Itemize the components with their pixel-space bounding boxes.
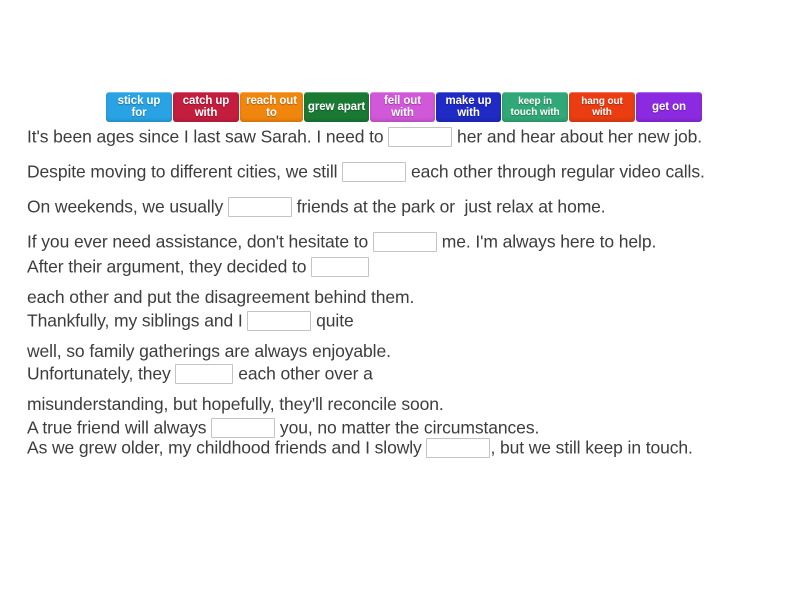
sentence-line: On weekends, we usually friends at the p… — [27, 198, 777, 218]
word-tile[interactable]: catch up with — [173, 92, 239, 122]
answer-drop-blank[interactable] — [311, 257, 369, 277]
answer-drop-blank[interactable] — [342, 162, 406, 182]
word-tile[interactable]: keep in touch with — [502, 92, 568, 122]
sentence-text-before: On weekends, we usually — [27, 197, 228, 217]
sentence-text-after: you, no matter the circumstances. — [275, 417, 539, 437]
word-tile[interactable]: get on — [636, 92, 702, 122]
sentence-line: If you ever need assistance, don't hesit… — [27, 233, 777, 253]
sentence-text-before: each other and put the disagreement behi… — [27, 287, 414, 307]
sentence-text-after: each other through regular video calls. — [406, 162, 705, 182]
sentence-text-after: each other over a — [233, 364, 372, 384]
sentence-line: Despite moving to different cities, we s… — [27, 163, 777, 183]
sentence-text-before: A true friend will always — [27, 417, 211, 437]
sentence-text-before: well, so family gatherings are always en… — [27, 341, 391, 361]
sentence-line: well, so family gatherings are always en… — [27, 343, 777, 361]
sentence-line: Thankfully, my siblings and I quite — [27, 312, 777, 332]
sentence-line: After their argument, they decided to — [27, 258, 777, 278]
sentence-text-after: quite — [311, 310, 353, 330]
word-tile[interactable]: hang out with — [569, 92, 635, 122]
word-tile[interactable]: make up with — [436, 92, 501, 122]
sentence-line: misunderstanding, but hopefully, they'll… — [27, 396, 777, 414]
sentence-line: Unfortunately, they each other over a — [27, 365, 777, 385]
word-tile[interactable]: reach out to — [240, 92, 303, 122]
answer-drop-blank[interactable] — [426, 438, 490, 458]
sentence-text-before: If you ever need assistance, don't hesit… — [27, 232, 373, 252]
sentence-text-before: misunderstanding, but hopefully, they'll… — [27, 394, 444, 414]
word-tile[interactable]: fell out with — [370, 92, 435, 122]
answer-drop-blank[interactable] — [373, 232, 437, 252]
word-tile[interactable]: grew apart — [304, 92, 369, 122]
answer-drop-blank[interactable] — [228, 197, 292, 217]
answer-drop-blank[interactable] — [175, 364, 233, 384]
answer-drop-blank[interactable] — [247, 311, 311, 331]
sentence-line: As we grew older, my childhood friends a… — [27, 439, 777, 459]
word-tile[interactable]: stick up for — [106, 92, 172, 122]
sentence-text-before: Despite moving to different cities, we s… — [27, 162, 342, 182]
word-bank[interactable]: stick up forcatch up withreach out togre… — [106, 92, 698, 122]
answer-drop-blank[interactable] — [388, 127, 452, 147]
sentence-text-before: Unfortunately, they — [27, 364, 175, 384]
answer-drop-blank[interactable] — [211, 418, 275, 438]
sentence-list: It's been ages since I last saw Sarah. I… — [27, 128, 777, 459]
sentence-text-after: me. I'm always here to help. — [437, 232, 656, 252]
sentence-text-before: After their argument, they decided to — [27, 257, 311, 277]
sentence-text-after: friends at the park or just relax at hom… — [292, 197, 606, 217]
sentence-text-before: Thankfully, my siblings and I — [27, 310, 247, 330]
sentence-text-after: her and hear about her new job. — [452, 127, 702, 147]
sentence-line: each other and put the disagreement behi… — [27, 289, 777, 307]
sentence-text-after: , but we still keep in touch. — [490, 437, 692, 457]
sentence-line: It's been ages since I last saw Sarah. I… — [27, 128, 777, 148]
sentence-line: A true friend will always you, no matter… — [27, 419, 777, 439]
sentence-text-before: It's been ages since I last saw Sarah. I… — [27, 127, 388, 147]
sentence-text-before: As we grew older, my childhood friends a… — [27, 437, 426, 457]
